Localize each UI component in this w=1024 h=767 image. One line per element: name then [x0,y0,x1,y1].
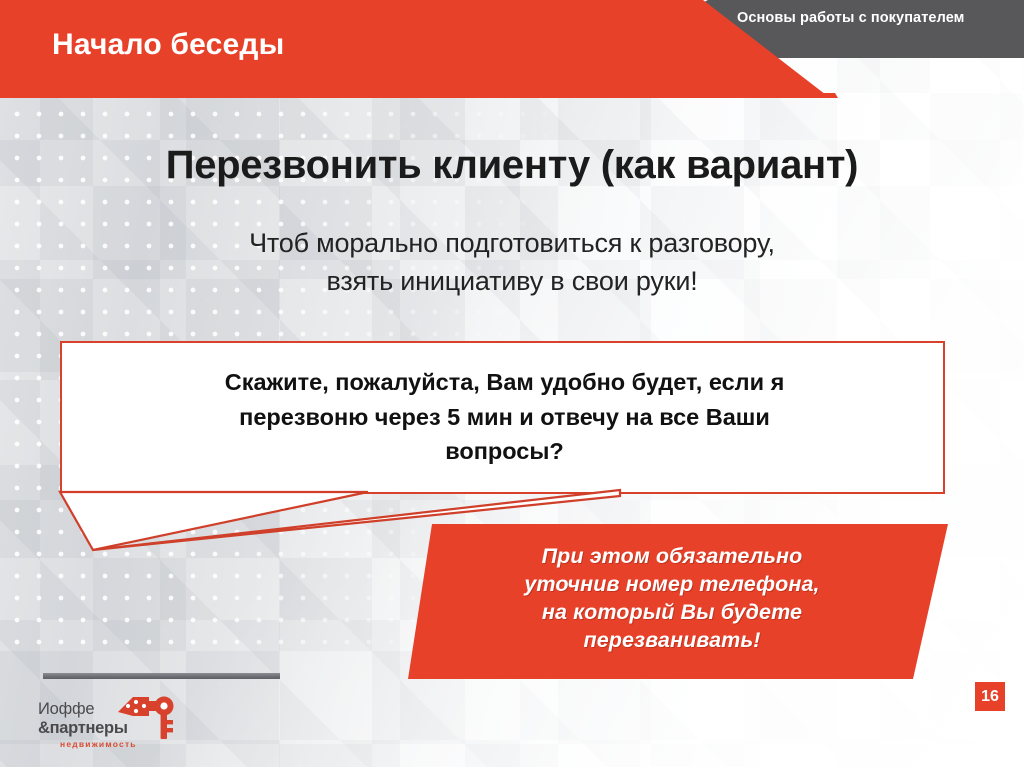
callout-line-2: уточнив номер телефона, [408,571,936,599]
slide: Основы работы с покупателем Начало бесед… [0,0,1024,767]
callout-line-4: перезванивать! [408,627,936,655]
callout-text: При этом обязательно уточнив номер телеф… [408,543,936,655]
slide-header: Основы работы с покупателем Начало бесед… [0,0,1024,100]
header-red-banner-edge [0,93,1024,98]
page-subtitle-line-1: Чтоб морально подготовиться к разговору, [0,224,1024,262]
callout-banner: При этом обязательно уточнив номер телеф… [408,524,948,679]
key-tag-icon [116,692,178,740]
header-section-label: Основы работы с покупателем [737,8,1007,30]
speech-bubble: Скажите, пожалуйста, Вам удобно будет, е… [60,341,945,494]
speech-bubble-line-3: вопросы? [96,434,913,469]
company-logo: Иоффе &партнеры недвижимость [38,700,258,758]
logo-line-1: Иоффе [38,700,94,719]
callout-line-1: При этом обязательно [408,543,936,571]
page-subtitle-line-2: взять инициативу в свои руки! [0,262,1024,300]
logo-line-2: &партнеры [38,719,128,738]
footer-divider [43,673,280,679]
speech-bubble-line-1: Скажите, пожалуйста, Вам удобно будет, е… [96,365,913,400]
callout-line-3: на который Вы будете [408,599,936,627]
page-number-badge: 16 [975,682,1005,711]
speech-bubble-text: Скажите, пожалуйста, Вам удобно будет, е… [96,365,913,469]
page-title: Перезвонить клиенту (как вариант) [0,143,1024,188]
logo-line-3: недвижимость [60,739,137,749]
slide-title: Начало беседы [52,28,284,62]
page-subtitle: Чтоб морально подготовиться к разговору,… [0,224,1024,301]
speech-bubble-line-2: перезвоню через 5 мин и отвечу на все Ва… [96,400,913,435]
